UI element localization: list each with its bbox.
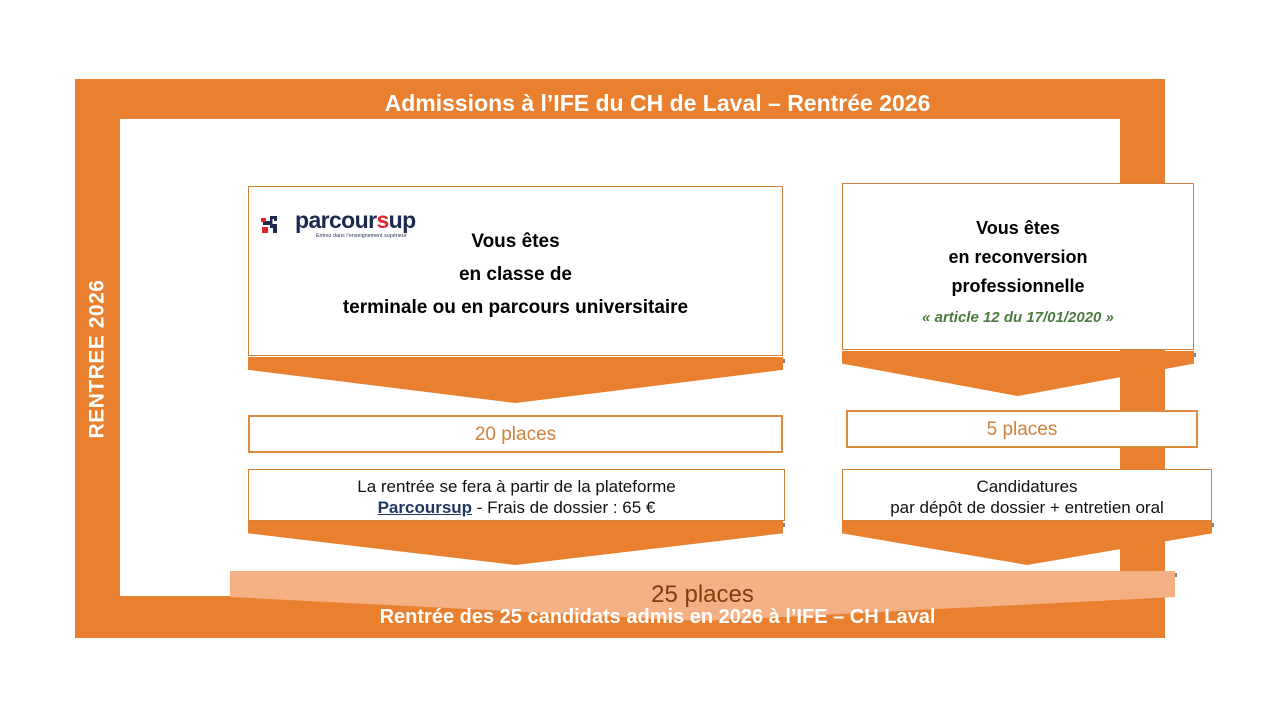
card-terminale-line-1: Vous êtes [249, 225, 782, 258]
chevron-down-left-1-icon [248, 357, 783, 403]
card-places-terminale[interactable]: 20 places [248, 415, 783, 453]
places-count-reconversion: 5 places [848, 419, 1196, 441]
side-label: RENTREE 2026 [75, 119, 120, 599]
card-reconversion-line-1: Vous êtes [843, 214, 1193, 243]
card-terminale-line-3: terminale ou en parcours universitaire [249, 291, 782, 324]
card-candidatures-text: Candidatures par dépôt de dossier + entr… [843, 476, 1211, 518]
card-reconversion-line-3: professionnelle [843, 272, 1193, 301]
orange-frame: Admissions à l’IFE du CH de Laval – Rent… [75, 79, 1165, 638]
card-candidatures-line-1: Candidatures [843, 476, 1211, 497]
card-rentree-line-2: Parcoursup - Frais de dossier : 65 € [249, 497, 784, 518]
slide-canvas: Admissions à l’IFE du CH de Laval – Rent… [0, 0, 1280, 720]
card-terminale[interactable]: parcoursup Entrez dans l’enseignement su… [248, 186, 783, 356]
card-reconversion-line-2: en reconversion [843, 243, 1193, 272]
parcoursup-link[interactable]: Parcoursup [378, 498, 472, 517]
content-area: parcoursup Entrez dans l’enseignement su… [120, 119, 1120, 596]
side-label-text: RENTREE 2026 [86, 280, 110, 439]
fees-text: - Frais de dossier : 65 € [472, 498, 655, 517]
card-candidatures[interactable]: Candidatures par dépôt de dossier + entr… [842, 469, 1212, 521]
card-terminale-text: Vous êtes en classe de terminale ou en p… [249, 225, 782, 324]
card-places-reconversion[interactable]: 5 places [846, 410, 1198, 448]
chevron-down-right-2-icon [842, 521, 1212, 565]
places-count-terminale: 20 places [250, 424, 781, 446]
chevron-down-right-1-icon [842, 351, 1194, 396]
page-title: Admissions à l’IFE du CH de Laval – Rent… [195, 85, 1120, 121]
card-reconversion[interactable]: Vous êtes en reconversion professionnell… [842, 183, 1194, 350]
card-candidatures-line-2: par dépôt de dossier + entretien oral [843, 497, 1211, 518]
chevron-down-left-2-icon [248, 521, 783, 565]
card-rentree-parcoursup[interactable]: La rentrée se fera à partir de la platef… [248, 469, 785, 521]
page-footer: Rentrée des 25 candidats admis en 2026 à… [195, 600, 1120, 634]
card-reconversion-text: Vous êtes en reconversion professionnell… [843, 214, 1193, 332]
article-note: « article 12 du 17/01/2020 » [843, 303, 1193, 332]
card-rentree-line-1: La rentrée se fera à partir de la platef… [249, 476, 784, 497]
card-rentree-text: La rentrée se fera à partir de la platef… [249, 476, 784, 518]
card-terminale-line-2: en classe de [249, 258, 782, 291]
